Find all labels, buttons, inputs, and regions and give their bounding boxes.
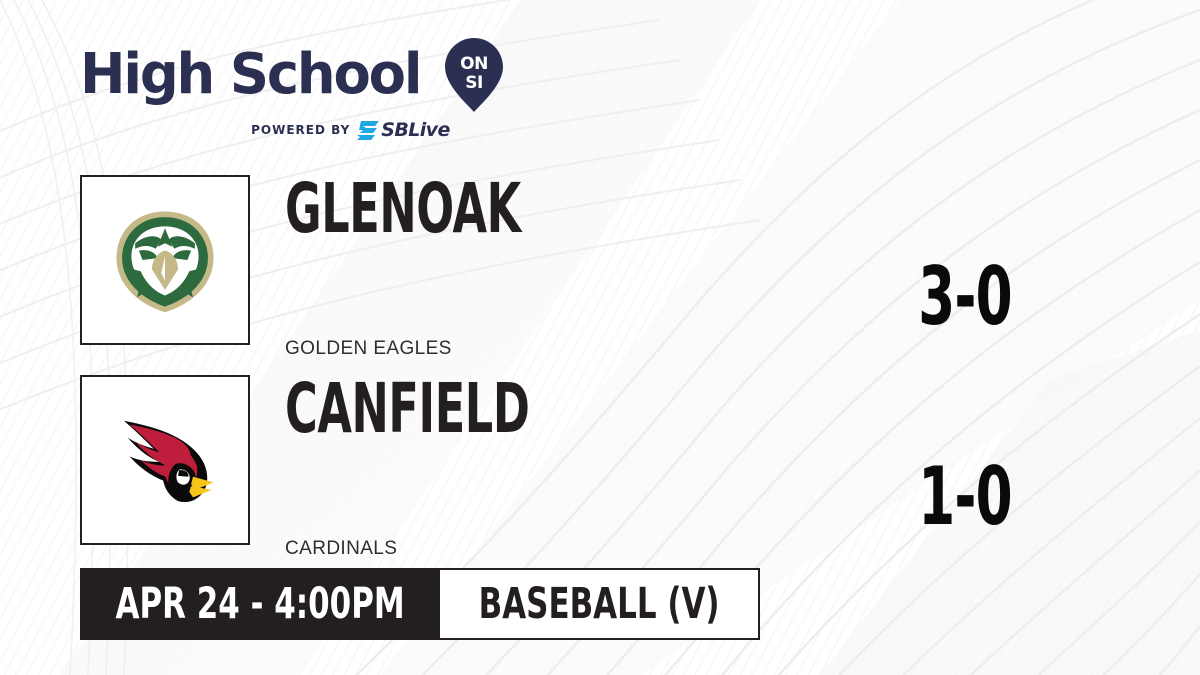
sblive-s-icon: [357, 121, 379, 140]
powered-by-label: POWERED BY: [251, 123, 350, 137]
svg-text:SI: SI: [465, 73, 483, 93]
match-datetime-text: APR 24 - 4:00PM: [115, 580, 404, 629]
match-sport-block: BASEBALL (V): [440, 568, 760, 640]
sblive-wordmark: SBLive: [381, 119, 449, 141]
sblive-logo: SBLive: [357, 119, 449, 141]
match-datetime-block: APR 24 - 4:00PM: [80, 568, 440, 640]
svg-text:ON: ON: [460, 54, 488, 74]
away-team-logo-card: [80, 375, 250, 545]
home-team-logo-card: [80, 175, 250, 345]
home-team-school-name: GLENOAK: [285, 175, 521, 243]
brand-wordmark: High School: [80, 47, 420, 103]
cardinal-head-icon: [109, 404, 221, 516]
match-sport-text: BASEBALL (V): [479, 580, 720, 629]
eagle-head-icon: [109, 204, 221, 316]
map-pin-on-si-icon: ON SI: [445, 38, 503, 112]
away-team-record: 1-0: [879, 456, 1051, 537]
brand-logo-row: High School ON SI: [80, 38, 503, 112]
match-info-bar: APR 24 - 4:00PM BASEBALL (V): [80, 568, 760, 640]
brand-header: High School ON SI POWERED BY SBLive: [80, 38, 503, 141]
away-team-school-name: CANFIELD: [285, 375, 529, 443]
powered-by-row: POWERED BY SBLive: [80, 119, 503, 141]
home-team-record: 3-0: [879, 256, 1051, 337]
away-team-mascot: CARDINALS: [285, 539, 397, 558]
home-team-mascot: GOLDEN EAGLES: [285, 339, 452, 358]
